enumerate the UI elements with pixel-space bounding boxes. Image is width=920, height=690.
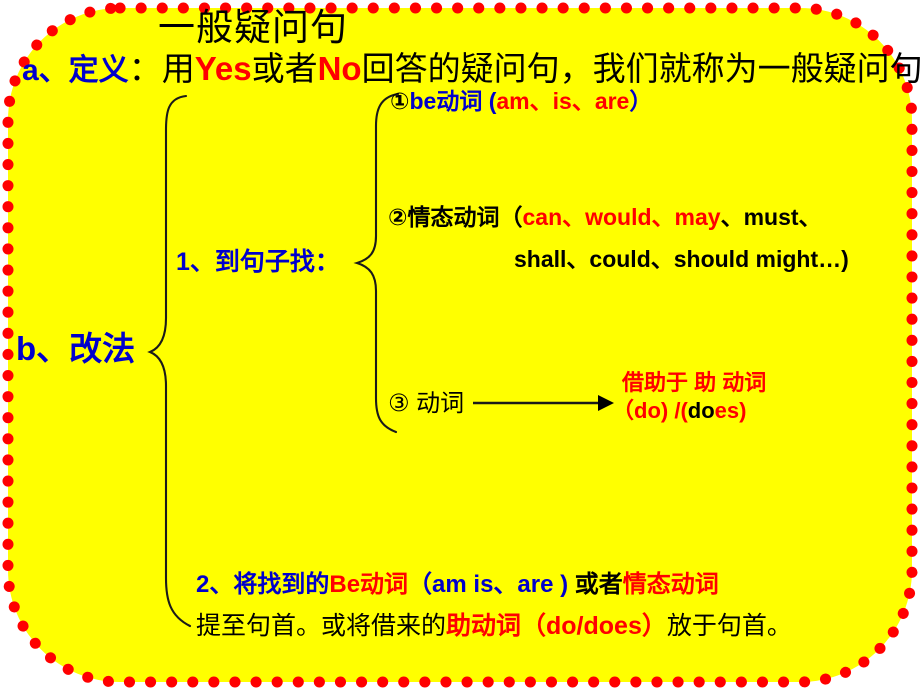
item2-modals-black: 、must、	[721, 204, 822, 230]
item2-paren-open: （	[499, 204, 522, 230]
item2-label: 情态动词	[407, 204, 499, 230]
step1-label: 1、到句子找：	[176, 250, 340, 275]
auxiliary-line1: 借助于 助 动词	[622, 372, 766, 394]
item1-verbs: am、is、are	[496, 88, 629, 114]
item1-label: be动词	[409, 88, 482, 114]
aux-does-suffix: es)	[715, 398, 747, 423]
item2-modals-red: can、would、may	[522, 204, 720, 230]
item1-paren-close: ）	[629, 88, 652, 114]
item2-number: ②	[388, 204, 407, 230]
step2-l2-seg1: 提至句首。或将借来的	[196, 613, 446, 640]
step2-line1: 2、将找到的Be动词（am is、are ) 或者情态动词	[196, 573, 719, 597]
step2-l1-be: Be动词	[329, 571, 408, 598]
aux-do: （do)	[612, 398, 668, 423]
step2-l1-seg1: 2、将找到的	[196, 571, 329, 598]
item-modal-verb-line2: shall、could、should might…)	[514, 248, 849, 271]
item-be-verb: ①be动词 (am、is、are）	[390, 90, 652, 113]
item-modal-verb-line1: ②情态动词（can、would、may、must、	[388, 206, 822, 229]
step2-l1-be-examples: （am is、are )	[408, 571, 575, 598]
item3-number: ③	[388, 390, 410, 417]
step2-l1-or: 或者	[575, 571, 623, 598]
step2-l2-aux: 助动词（do/does）	[446, 612, 667, 640]
slide-canvas: 一般疑问句 a、定义：用Yes或者No回答的疑问句，我们就称为一般疑问句。 b、…	[0, 0, 920, 690]
method-label: b、改法	[16, 332, 135, 365]
item1-paren-open: (	[482, 88, 496, 114]
item3-label: 动词	[410, 390, 465, 417]
aux-does-stem: do	[688, 398, 715, 423]
step2-line2: 提至句首。或将借来的助动词（do/does）放于句首。	[196, 614, 792, 639]
auxiliary-line2: （do) /(does)	[612, 400, 746, 422]
step2-l1-modal: 情态动词	[623, 571, 719, 598]
item-verb: ③ 动词	[388, 392, 464, 416]
aux-slash: /(	[668, 398, 688, 423]
step2-l2-seg2: 放于句首。	[667, 613, 792, 640]
item1-number: ①	[390, 88, 409, 114]
